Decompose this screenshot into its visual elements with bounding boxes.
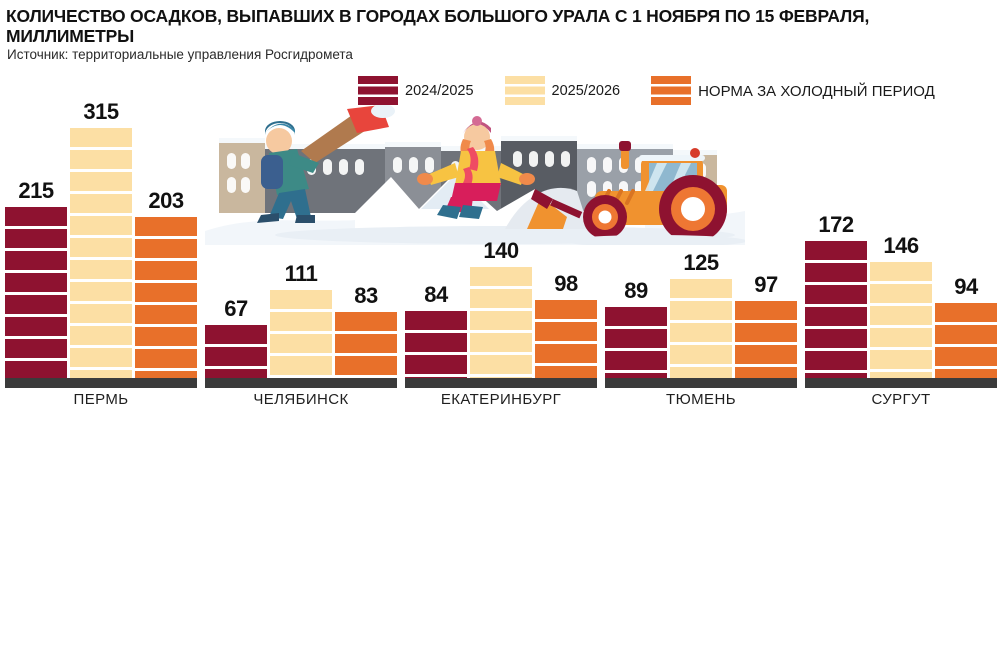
category-label-perm: Пермь <box>5 390 197 410</box>
bar-value-yekaterinburg-norm: 98 <box>535 271 597 297</box>
bar-wrap-surgut-norm[interactable]: 94 <box>935 303 997 378</box>
bar-group-perm: 215 315 203 Пермь <box>5 0 197 410</box>
bar-yekaterinburg-2024-2025[interactable] <box>405 311 467 378</box>
bar-wrap-surgut-2024-2025[interactable]: 172 <box>805 241 867 378</box>
bar-value-chelyabinsk-2025-2026: 111 <box>270 261 332 287</box>
bar-wrap-surgut-2025-2026[interactable]: 146 <box>870 262 932 378</box>
bar-perm-2024-2025[interactable] <box>5 207 67 378</box>
infographic-page: Количество осадков, выпавших в городах Б… <box>0 0 1000 667</box>
bar-value-chelyabinsk-2024-2025: 67 <box>205 296 267 322</box>
bar-value-chelyabinsk-norm: 83 <box>335 283 397 309</box>
category-label-chelyabinsk: Челябинск <box>205 390 397 410</box>
bar-value-perm-2025-2026: 315 <box>70 99 132 125</box>
bar-wrap-chelyabinsk-2024-2025[interactable]: 67 <box>205 325 267 378</box>
category-label-yekaterinburg: Екатеринбург <box>405 390 597 410</box>
bar-tyumen-2025-2026[interactable] <box>670 279 732 378</box>
bar-wrap-chelyabinsk-norm[interactable]: 83 <box>335 312 397 378</box>
bar-value-tyumen-2025-2026: 125 <box>670 250 732 276</box>
category-label-tyumen: Тюмень <box>605 390 797 410</box>
bar-wrap-perm-2024-2025[interactable]: 215 <box>5 207 67 378</box>
category-label-surgut: Сургут <box>805 390 997 410</box>
bar-chart: 215 315 203 Пермь 67 <box>0 0 1000 410</box>
bar-wrap-tyumen-2024-2025[interactable]: 89 <box>605 307 667 378</box>
bar-value-perm-norm: 203 <box>135 188 197 214</box>
baseline-perm <box>5 378 197 388</box>
bar-value-yekaterinburg-2025-2026: 140 <box>470 238 532 264</box>
bar-group-surgut: 172 146 94 Сургут <box>805 0 997 410</box>
bar-perm-2025-2026[interactable] <box>70 128 132 378</box>
bar-group-tyumen: 89 125 97 Тюмень <box>605 0 797 410</box>
bar-wrap-yekaterinburg-2024-2025[interactable]: 84 <box>405 311 467 378</box>
bar-wrap-yekaterinburg-norm[interactable]: 98 <box>535 300 597 378</box>
bar-surgut-norm[interactable] <box>935 303 997 378</box>
bar-value-tyumen-2024-2025: 89 <box>605 278 667 304</box>
bar-yekaterinburg-2025-2026[interactable] <box>470 267 532 378</box>
bar-chelyabinsk-2025-2026[interactable] <box>270 290 332 378</box>
bar-wrap-perm-2025-2026[interactable]: 315 <box>70 128 132 378</box>
bar-wrap-chelyabinsk-2025-2026[interactable]: 111 <box>270 290 332 378</box>
baseline-yekaterinburg <box>405 378 597 388</box>
bar-tyumen-norm[interactable] <box>735 301 797 378</box>
bar-value-perm-2024-2025: 215 <box>5 178 67 204</box>
bar-yekaterinburg-norm[interactable] <box>535 300 597 378</box>
baseline-tyumen <box>605 378 797 388</box>
bar-chelyabinsk-norm[interactable] <box>335 312 397 378</box>
bar-chelyabinsk-2024-2025[interactable] <box>205 325 267 378</box>
bar-perm-norm[interactable] <box>135 217 197 378</box>
bar-value-surgut-norm: 94 <box>935 274 997 300</box>
bar-group-chelyabinsk: 67 111 83 Челябинск <box>205 0 397 410</box>
bar-value-tyumen-norm: 97 <box>735 272 797 298</box>
baseline-surgut <box>805 378 997 388</box>
bar-surgut-2025-2026[interactable] <box>870 262 932 378</box>
bar-wrap-yekaterinburg-2025-2026[interactable]: 140 <box>470 267 532 378</box>
baseline-chelyabinsk <box>205 378 397 388</box>
bar-value-yekaterinburg-2024-2025: 84 <box>405 282 467 308</box>
bar-wrap-tyumen-2025-2026[interactable]: 125 <box>670 279 732 378</box>
bar-surgut-2024-2025[interactable] <box>805 241 867 378</box>
bar-tyumen-2024-2025[interactable] <box>605 307 667 378</box>
bar-value-surgut-2025-2026: 146 <box>870 233 932 259</box>
bar-group-yekaterinburg: 84 140 98 Екатеринбург <box>405 0 597 410</box>
bar-value-surgut-2024-2025: 172 <box>805 212 867 238</box>
bar-wrap-tyumen-norm[interactable]: 97 <box>735 301 797 378</box>
bar-wrap-perm-norm[interactable]: 203 <box>135 217 197 378</box>
